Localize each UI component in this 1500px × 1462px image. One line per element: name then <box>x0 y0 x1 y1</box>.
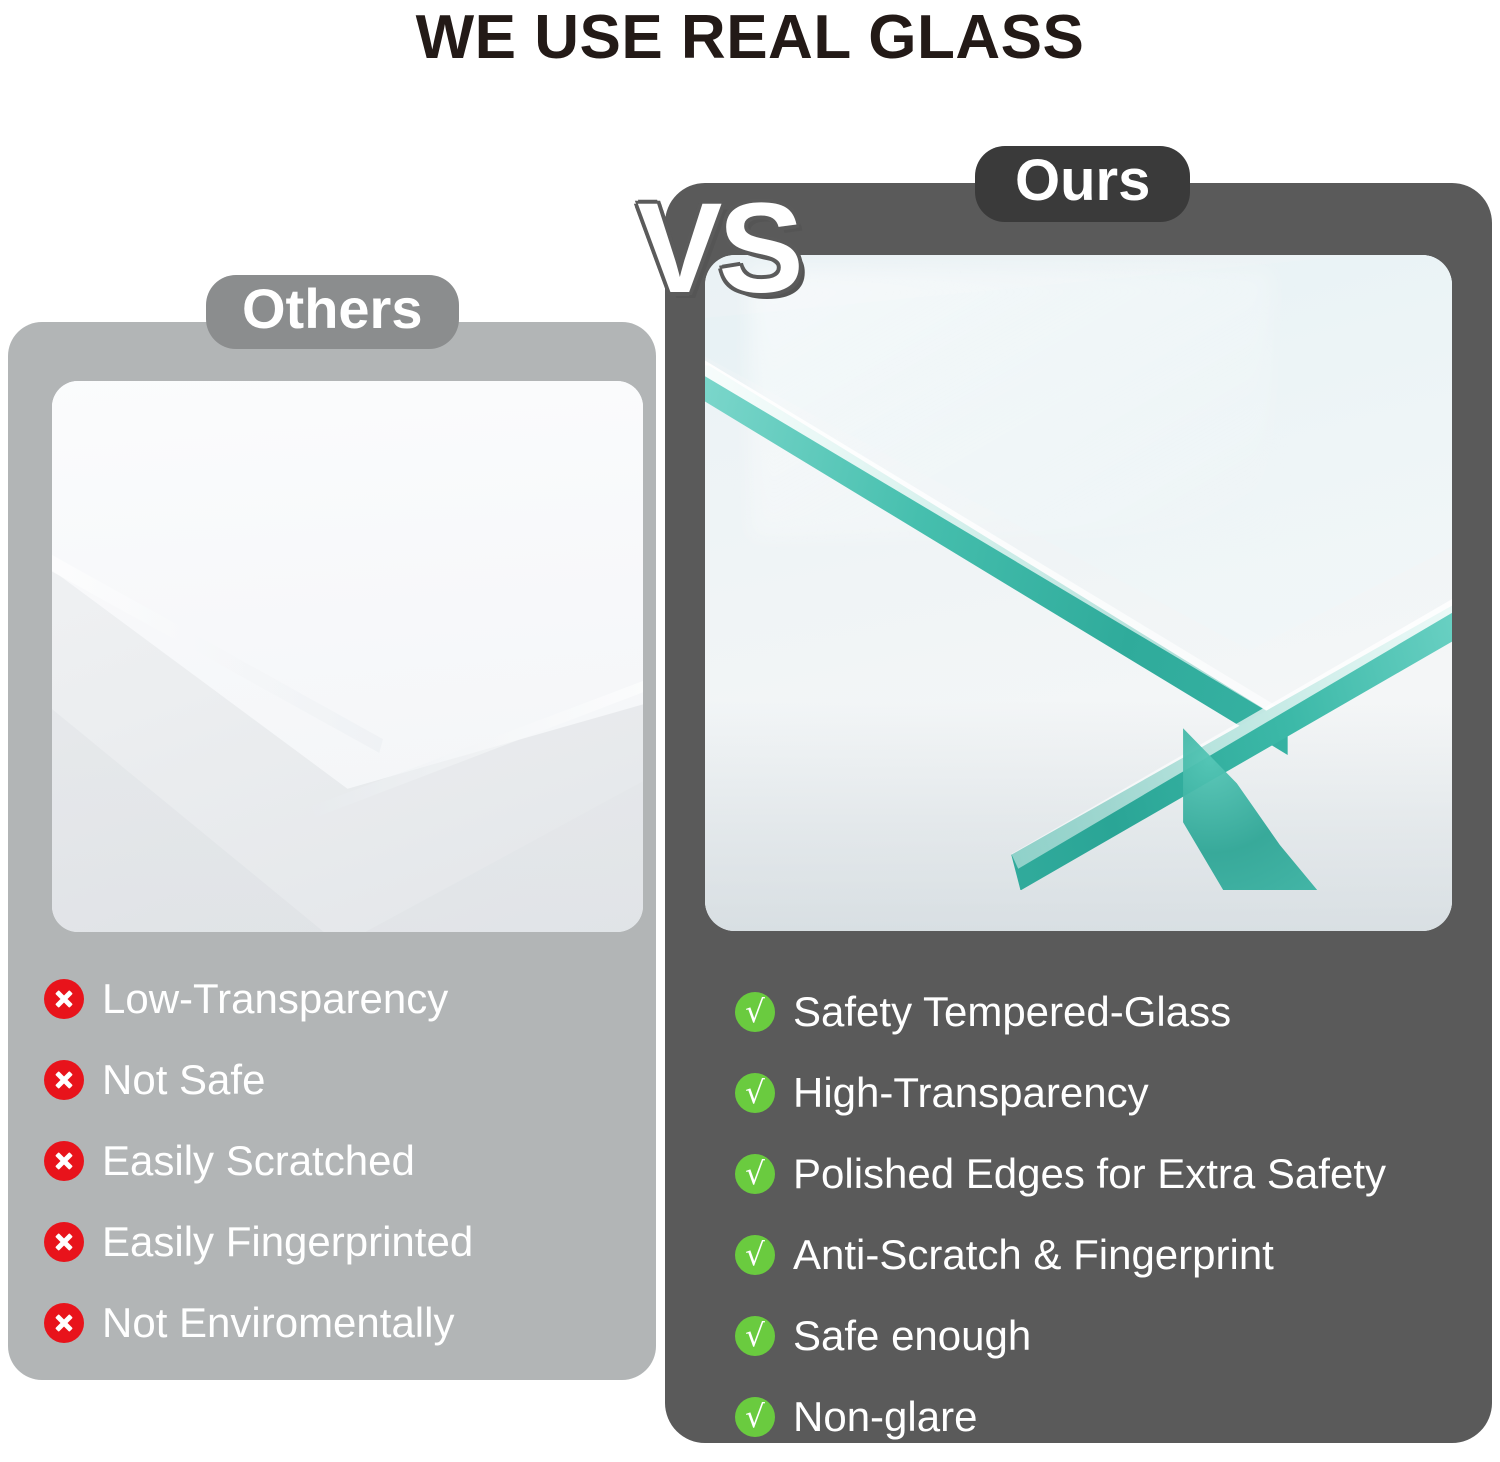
check-icon: √ <box>735 1235 775 1275</box>
others-product-image <box>52 381 643 932</box>
list-item: √ Polished Edges for Extra Safety <box>735 1133 1495 1214</box>
check-glyph: √ <box>735 1071 775 1115</box>
feature-label: Safety Tempered-Glass <box>793 988 1231 1036</box>
cross-icon <box>44 1060 84 1100</box>
check-icon: √ <box>735 1397 775 1437</box>
feature-label: Low-Transparency <box>102 975 448 1023</box>
feature-label: Easily Fingerprinted <box>102 1218 473 1266</box>
others-badge: Others <box>206 275 459 349</box>
list-item: √ Non-glare <box>735 1376 1495 1457</box>
check-glyph: √ <box>735 1395 775 1439</box>
ours-feature-list: √ Safety Tempered-Glass √ High-Transpare… <box>735 971 1495 1457</box>
ours-product-image <box>705 255 1452 931</box>
ours-badge: Ours <box>975 146 1190 222</box>
feature-label: Not Safe <box>102 1056 265 1104</box>
others-panel: Low-Transparency Not Safe Easily Scratch… <box>8 322 656 1380</box>
list-item: √ Anti-Scratch & Fingerprint <box>735 1214 1495 1295</box>
cross-icon <box>44 979 84 1019</box>
feature-label: Polished Edges for Extra Safety <box>793 1150 1386 1198</box>
cross-icon <box>44 1303 84 1343</box>
check-glyph: √ <box>735 1233 775 1277</box>
check-glyph: √ <box>735 990 775 1034</box>
check-icon: √ <box>735 1073 775 1113</box>
list-item: Not Safe <box>44 1039 644 1120</box>
glass-sheen <box>750 269 1273 539</box>
feature-label: Anti-Scratch & Fingerprint <box>793 1231 1274 1279</box>
check-glyph: √ <box>735 1314 775 1358</box>
check-glyph: √ <box>735 1152 775 1196</box>
list-item: Not Enviromentally <box>44 1282 644 1363</box>
list-item: Easily Fingerprinted <box>44 1201 644 1282</box>
feature-label: Easily Scratched <box>102 1137 415 1185</box>
versus-label: VS <box>637 185 800 313</box>
feature-label: Non-glare <box>793 1393 977 1441</box>
list-item: Low-Transparency <box>44 958 644 1039</box>
feature-label: High-Transparency <box>793 1069 1149 1117</box>
list-item: √ High-Transparency <box>735 1052 1495 1133</box>
cross-icon <box>44 1222 84 1262</box>
feature-label: Not Enviromentally <box>102 1299 454 1347</box>
feature-label: Safe enough <box>793 1312 1031 1360</box>
cross-icon <box>44 1141 84 1181</box>
page-title: WE USE REAL GLASS <box>0 2 1500 73</box>
ours-panel: √ Safety Tempered-Glass √ High-Transpare… <box>665 183 1492 1443</box>
list-item: √ Safe enough <box>735 1295 1495 1376</box>
check-icon: √ <box>735 992 775 1032</box>
check-icon: √ <box>735 1316 775 1356</box>
others-feature-list: Low-Transparency Not Safe Easily Scratch… <box>44 958 644 1363</box>
check-icon: √ <box>735 1154 775 1194</box>
list-item: √ Safety Tempered-Glass <box>735 971 1495 1052</box>
list-item: Easily Scratched <box>44 1120 644 1201</box>
